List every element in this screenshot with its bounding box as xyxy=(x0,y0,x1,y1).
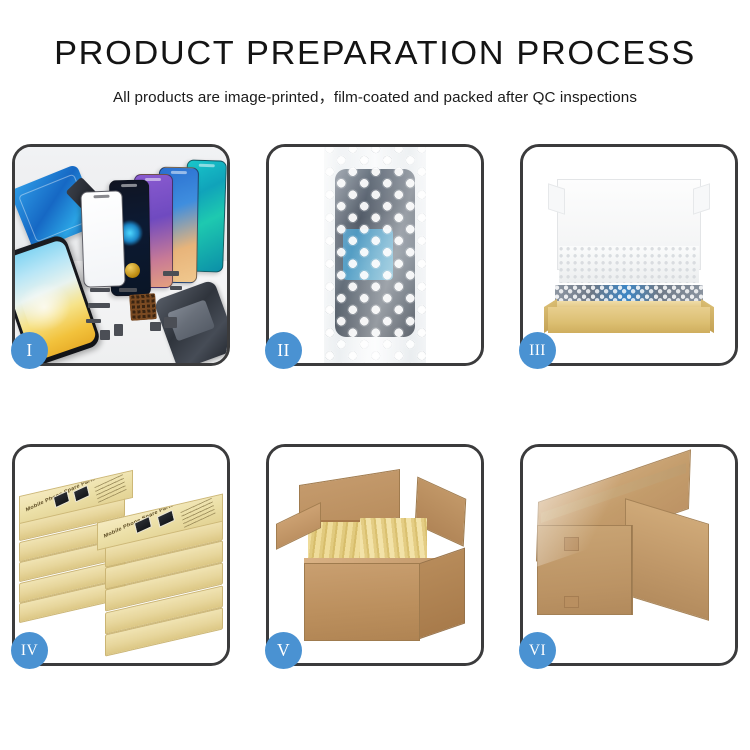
process-step-panel-3: III xyxy=(520,144,738,366)
phone-notch-icon xyxy=(93,195,109,199)
step-number-badge-3: III xyxy=(519,332,556,369)
step-3-image xyxy=(523,147,735,363)
spare-parts-graphic xyxy=(83,262,223,357)
step-5-image xyxy=(269,447,481,663)
speaker-mesh-icon xyxy=(130,293,158,321)
foam-sheet-graphic xyxy=(559,246,699,283)
step-number-badge-4: IV xyxy=(11,632,48,669)
flex-cable-icon xyxy=(86,319,101,323)
step-4-image: Mobile Phone Spare Parts Mobile Phone Sp… xyxy=(15,447,227,663)
button-part-icon xyxy=(150,322,161,331)
process-steps-grid: I II III xyxy=(12,144,738,666)
packed-boxes-graphic xyxy=(360,518,427,561)
vibration-motor-icon xyxy=(125,263,140,278)
plastic-sheen-layer xyxy=(324,147,426,363)
carton-front-panel xyxy=(304,563,420,642)
flex-cable-icon xyxy=(88,303,110,308)
flex-cable-icon xyxy=(119,288,137,292)
step-6-image xyxy=(523,447,735,663)
step-number-badge-2: II xyxy=(265,332,302,369)
page-header: PRODUCT PREPARATION PROCESS All products… xyxy=(0,0,750,107)
process-step-panel-4: Mobile Phone Spare Parts Mobile Phone Sp… xyxy=(12,444,230,666)
flex-cable-icon xyxy=(90,288,110,292)
carton-corner-edge xyxy=(631,525,633,615)
step-number-badge-5: V xyxy=(265,632,302,669)
box-spec-text-lines xyxy=(181,497,216,527)
page-title: PRODUCT PREPARATION PROCESS xyxy=(0,34,750,72)
camera-module-icon xyxy=(100,330,110,340)
step-number-badge-6: VI xyxy=(519,632,556,669)
box-spec-text-lines xyxy=(95,474,127,503)
step-1-image xyxy=(15,147,227,363)
phone-notch-icon xyxy=(145,178,161,181)
page-subtitle: All products are image-printed，film-coat… xyxy=(0,85,750,107)
step-2-image xyxy=(269,147,481,363)
process-step-panel-5: V xyxy=(266,444,484,666)
process-step-panel-1: I xyxy=(12,144,230,366)
gold-contact-icon xyxy=(163,271,179,276)
open-carton-graphic xyxy=(282,477,469,641)
box-lid-flap-left xyxy=(548,183,565,214)
phone-notch-icon xyxy=(171,171,187,174)
connector-icon xyxy=(114,324,123,336)
box-lid-flap-right xyxy=(693,183,710,214)
carton-side-panel xyxy=(416,548,465,640)
phone-notch-icon xyxy=(121,184,137,187)
process-step-panel-6: VI xyxy=(520,444,738,666)
process-step-panel-2: II xyxy=(266,144,484,366)
carton-hand-hole xyxy=(564,596,579,608)
phone-notch-icon xyxy=(198,164,214,168)
box-tray-front xyxy=(548,307,709,333)
sealed-carton-graphic xyxy=(534,473,725,646)
step-number-badge-1: I xyxy=(11,332,48,369)
speaker-part-icon xyxy=(164,317,177,328)
gold-contact-icon xyxy=(170,286,182,290)
box-stack-graphic: Mobile Phone Spare Parts Mobile Phone Sp… xyxy=(19,469,223,655)
